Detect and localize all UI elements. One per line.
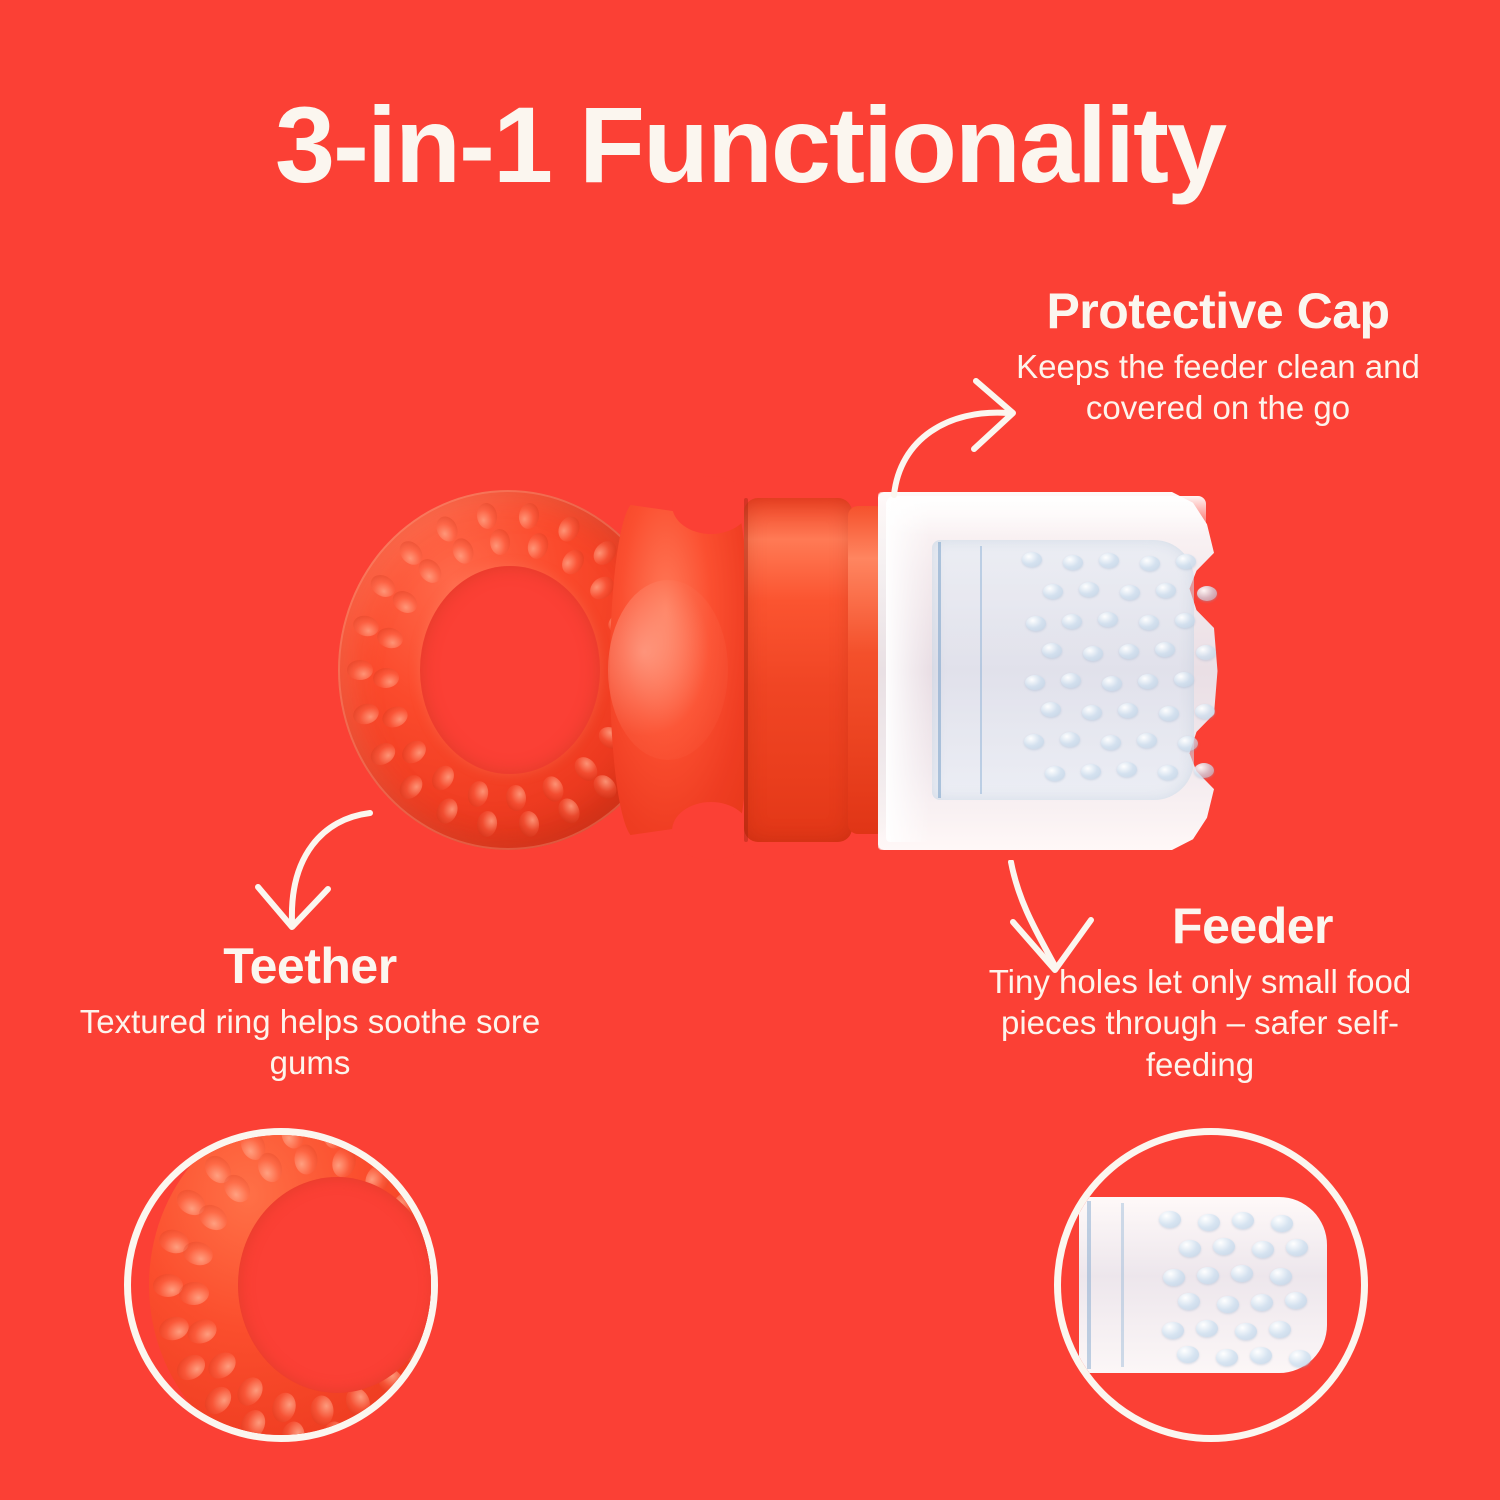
callout-heading: Protective Cap (1008, 285, 1428, 338)
feeder-basket-edge (938, 542, 941, 798)
inset-feeder-edge (1087, 1201, 1091, 1369)
infographic-canvas: 3-in-1 Functionality (0, 0, 1500, 1500)
callout-feeder: Feeder Tiny holes let only small food pi… (955, 900, 1445, 1085)
inset-feeder-edge-secondary (1121, 1203, 1124, 1367)
callout-protective-cap: Protective Cap Keeps the feeder clean an… (1008, 285, 1428, 429)
inset-teether-ring-hole (238, 1177, 436, 1393)
collar-seam (744, 498, 748, 842)
callout-heading: Teether (55, 940, 565, 993)
page-title: 3-in-1 Functionality (0, 88, 1500, 201)
product-part-collar (744, 498, 852, 842)
callout-body: Keeps the feeder clean and covered on th… (1008, 346, 1428, 429)
inset-teether-ring (149, 1128, 438, 1442)
handle-notch-top (672, 476, 750, 534)
handle-notch-bottom (672, 802, 750, 860)
feeder-basket-edge-secondary (980, 546, 982, 794)
inset-teether-closeup (124, 1128, 438, 1442)
callout-body: Textured ring helps soothe sore gums (55, 1001, 565, 1084)
callout-heading: Feeder (955, 900, 1445, 953)
callout-body: Tiny holes let only small food pieces th… (955, 961, 1445, 1086)
product-image (320, 470, 1260, 870)
handle-highlight (608, 580, 728, 760)
callout-teether: Teether Textured ring helps soothe sore … (55, 940, 565, 1084)
feeder-hole-texture (1020, 548, 1210, 794)
cap-gloss-top (886, 496, 1206, 536)
inset-feeder-closeup (1054, 1128, 1368, 1442)
inset-feeder-hole-texture (1159, 1209, 1311, 1361)
cap-gloss-left (886, 500, 930, 842)
